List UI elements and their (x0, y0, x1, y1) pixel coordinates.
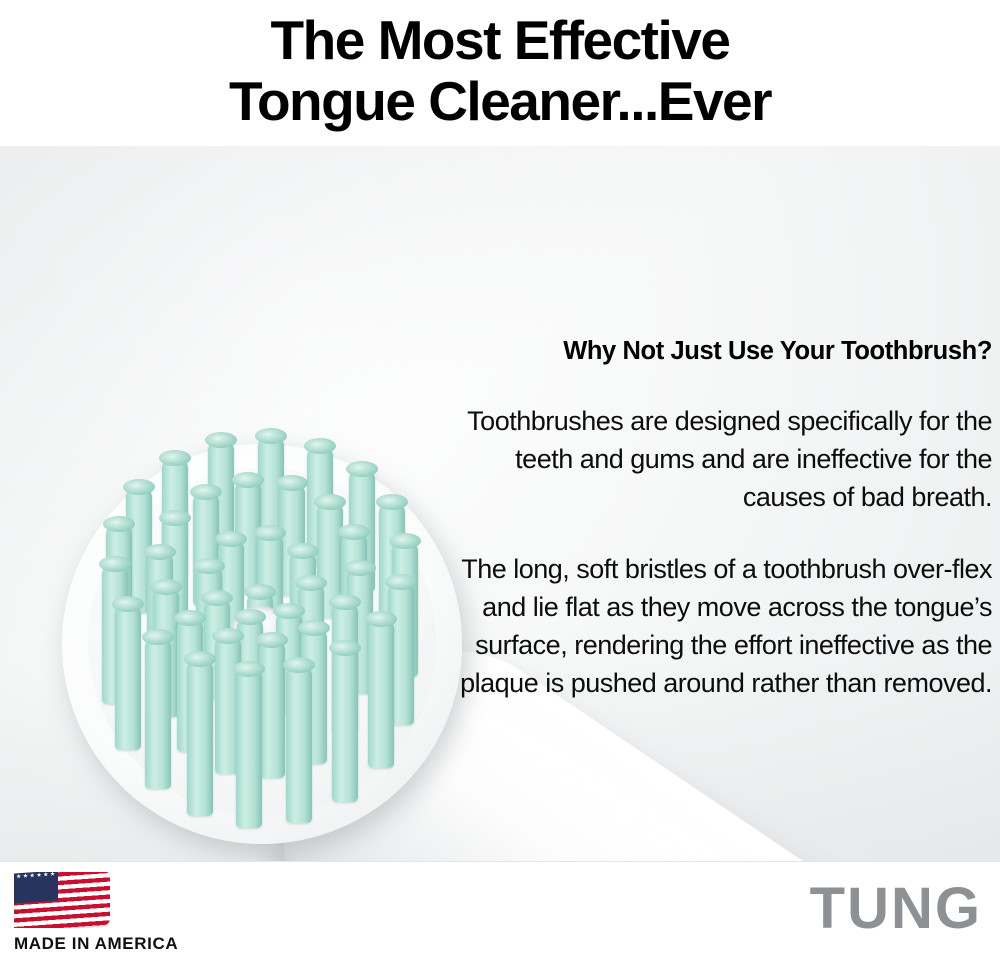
brand-logo-tung: TUNG (810, 878, 982, 940)
copy-paragraph-2: The long, soft bristles of a toothbrush … (432, 550, 992, 702)
bristle-field (62, 444, 462, 844)
flag-stars: ★★★★★★★★★★★★★★★★★★★★★★★★★★★★★★★★★★★★★★★★… (16, 872, 56, 901)
bristle-tuft (187, 660, 213, 816)
bristle-tuft (236, 670, 262, 827)
copy-paragraph-1: Toothbrushes are designed specifically f… (432, 402, 992, 516)
copy-column: Why Not Just Use Your Toothbrush? Toothb… (432, 336, 992, 702)
copy-heading: Why Not Just Use Your Toothbrush? (432, 336, 992, 366)
bristle-tuft (286, 666, 312, 823)
headline-line-1: The Most Effective (0, 10, 1000, 71)
bristle-tuft (332, 649, 358, 803)
headline-block: The Most Effective Tongue Cleaner...Ever (0, 0, 1000, 146)
made-in-america-block: ★★★★★★★★★★★★★★★★★★★★★★★★★★★★★★★★★★★★★★★★… (14, 872, 234, 954)
bristle-tuft (115, 605, 141, 751)
made-in-america-label: MADE IN AMERICA (14, 934, 234, 954)
usa-flag-icon: ★★★★★★★★★★★★★★★★★★★★★★★★★★★★★★★★★★★★★★★★… (14, 872, 110, 928)
content-area: Why Not Just Use Your Toothbrush? Toothb… (0, 146, 1000, 861)
bristle-tuft (145, 638, 171, 790)
bristle-tuft (368, 620, 394, 768)
headline-line-2: Tongue Cleaner...Ever (0, 71, 1000, 132)
footer-bar: ★★★★★★★★★★★★★★★★★★★★★★★★★★★★★★★★★★★★★★★★… (0, 861, 1000, 961)
product-infographic: The Most Effective Tongue Cleaner...Ever… (0, 0, 1000, 961)
bristle-tuft (259, 641, 285, 778)
